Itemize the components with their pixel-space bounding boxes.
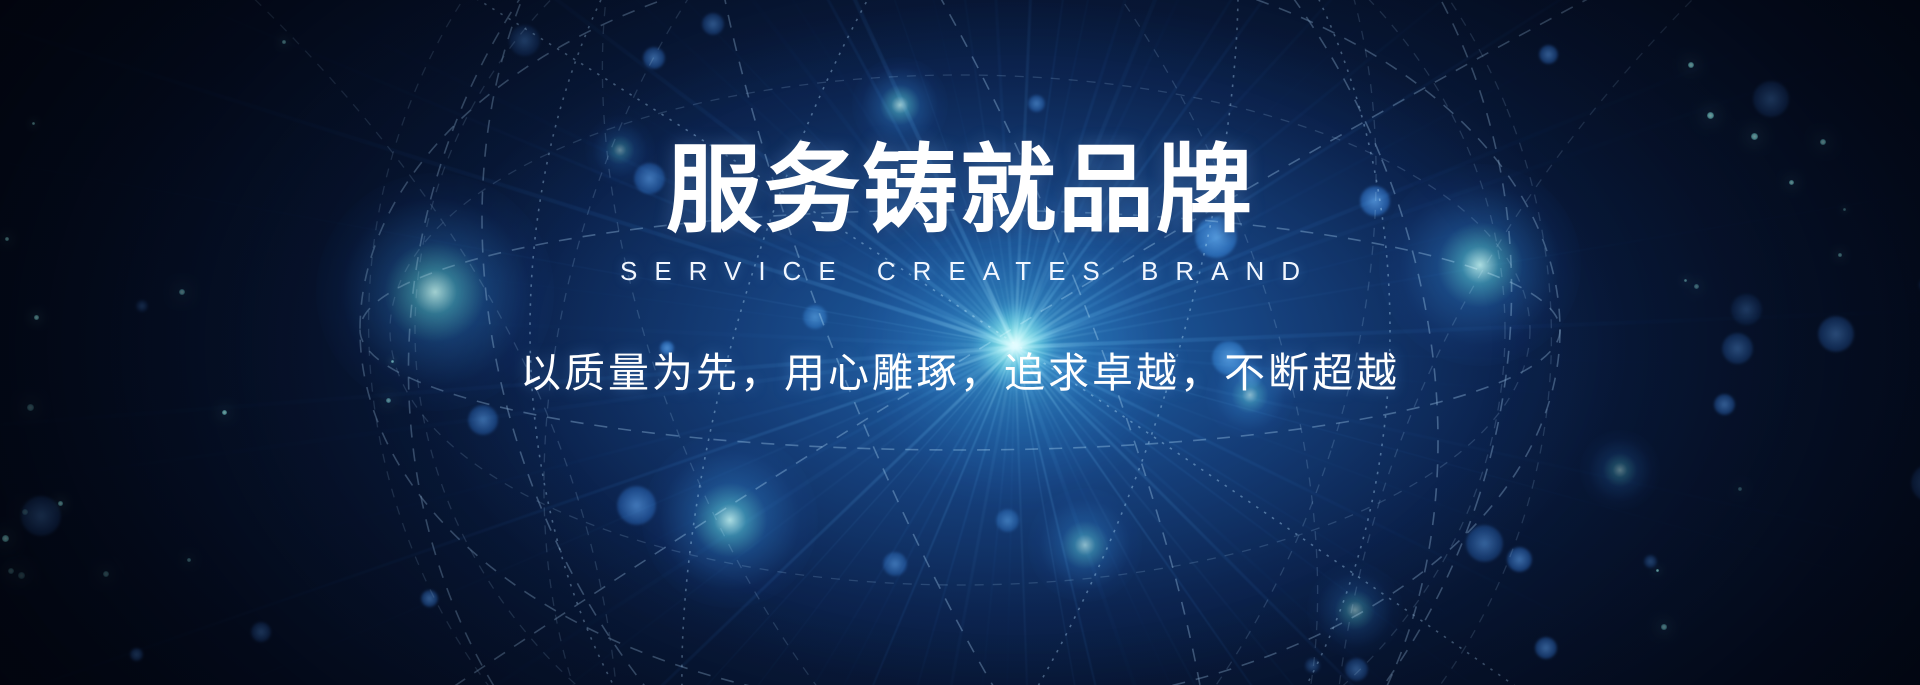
banner-content: 服务铸就品牌 SERVICE CREATES BRAND 以质量为先，用心雕琢，… xyxy=(0,0,1920,399)
star-particle xyxy=(187,558,191,562)
bokeh-dot xyxy=(1911,464,1920,502)
bokeh-dot xyxy=(1535,637,1557,659)
bokeh-dot xyxy=(1644,555,1657,568)
star-particle xyxy=(27,404,34,411)
banner-subtitle: SERVICE CREATES BRAND xyxy=(0,256,1920,287)
star-particle xyxy=(22,509,28,515)
star-particle xyxy=(2,535,9,542)
hero-banner: 服务铸就品牌 SERVICE CREATES BRAND 以质量为先，用心雕琢，… xyxy=(0,0,1920,685)
star-particle xyxy=(8,568,14,574)
star-particle xyxy=(1656,569,1659,572)
bokeh-dot xyxy=(21,496,61,536)
star-particle xyxy=(18,572,25,579)
star-particle xyxy=(222,410,227,415)
bokeh-dot xyxy=(251,622,271,642)
star-particle xyxy=(58,501,63,506)
bokeh-dot xyxy=(1507,547,1532,572)
banner-tagline: 以质量为先，用心雕琢，追求卓越，不断超越 xyxy=(0,339,1920,399)
star-particle xyxy=(103,571,109,577)
star-particle xyxy=(1661,624,1667,630)
bokeh-dot xyxy=(1305,658,1320,673)
star-particle xyxy=(1738,487,1742,491)
lens-flare-glow xyxy=(1580,430,1659,509)
lens-flare-glow xyxy=(642,432,818,608)
bokeh-dot xyxy=(1466,525,1503,562)
page-title: 服务铸就品牌 xyxy=(0,0,1920,238)
